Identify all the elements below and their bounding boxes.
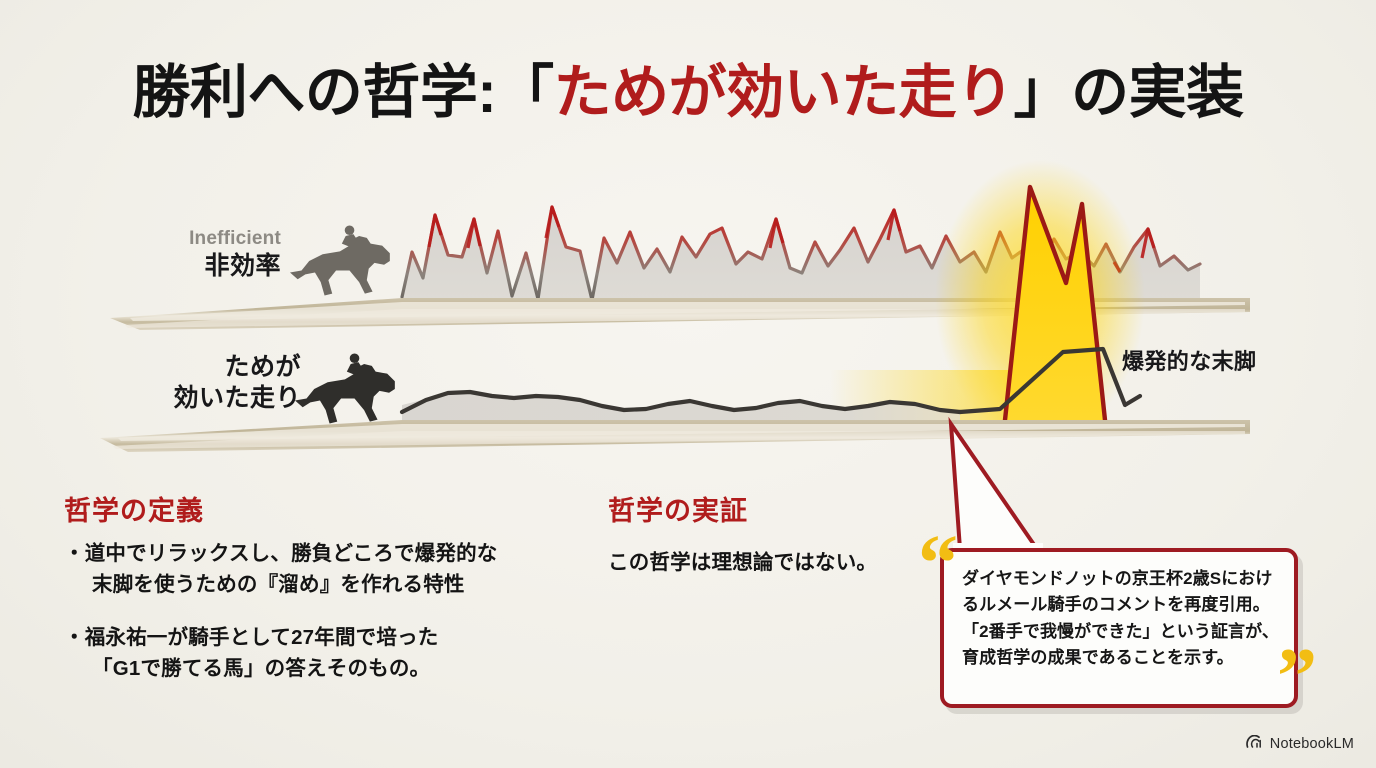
- notebooklm-arc-icon: [1246, 735, 1263, 752]
- watermark: NotebookLM: [1246, 735, 1354, 752]
- bullet-line-1: ・福永祐一が騎手として27年間で培った: [64, 626, 439, 649]
- inefficient-red-peaks: [429, 207, 1154, 272]
- proof-heading: 哲学の実証: [608, 489, 748, 528]
- tame-line: [402, 392, 960, 412]
- quote-line-4: 育成哲学の成果であることを示す。: [962, 645, 1282, 671]
- callout-tail: [951, 424, 1043, 557]
- quote-callout: ダイヤモンドノットの京王杯2歳Sにおけ るルメール騎手のコメントを再度引用。 「…: [940, 548, 1298, 708]
- proof-body: この哲学は理想論ではない。: [608, 548, 928, 579]
- quote-line-2: るルメール騎手のコメントを再度引用。: [962, 592, 1282, 618]
- list-item: ・福永祐一が騎手として27年間で培った 「G1で勝てる馬」の答えそのもの。: [64, 622, 594, 684]
- title-prefix: 勝利への哲学:「: [132, 60, 553, 125]
- slide-root: 勝利への哲学:「ためが効いた走り」の実装: [0, 0, 1376, 768]
- tame-area: [402, 392, 960, 420]
- row-label-inefficient-en: Inefficient: [81, 228, 281, 250]
- title-suffix: 」の実装: [1014, 60, 1244, 125]
- chart-inefficient: [110, 207, 1250, 330]
- final-burst-outline: [1005, 187, 1105, 420]
- row-label-inefficient: Inefficient 非効率: [81, 228, 281, 282]
- title-accent: ためが効いた走り: [554, 60, 1014, 125]
- spike-glow: [935, 160, 1145, 440]
- definition-heading: 哲学の定義: [64, 489, 204, 528]
- horse-jockey-icon-inefficient: [290, 225, 390, 295]
- burst-descent: [960, 349, 1140, 412]
- row-label-inefficient-jp: 非効率: [81, 251, 281, 282]
- inefficient-line: [402, 207, 1200, 300]
- row-label-tame-line2: 効いた走り: [81, 383, 301, 414]
- bullet-line-2: 「G1で勝てる馬」の答えそのもの。: [78, 653, 594, 684]
- track-row-2: [100, 420, 1250, 452]
- watermark-label: NotebookLM: [1270, 736, 1354, 752]
- burst-label: 爆発的な末脚: [1122, 344, 1256, 376]
- track-row-1: [110, 298, 1250, 330]
- quote-line-3: 「2番手で我慢ができた」という証言が、: [962, 619, 1282, 645]
- definition-bullets: ・道中でリラックスし、勝負どころで爆発的な 末脚を使うための『溜め』を作れる特性…: [64, 538, 594, 707]
- list-item: ・道中でリラックスし、勝負どころで爆発的な 末脚を使うための『溜め』を作れる特性: [64, 538, 594, 600]
- page-title: 勝利への哲学:「ためが効いた走り」の実装: [0, 62, 1376, 123]
- final-burst-shape: [1005, 187, 1105, 420]
- quote-open-icon: “: [918, 524, 958, 604]
- row-label-tame-line1: ためが: [81, 352, 301, 383]
- bullet-line-1: ・道中でリラックスし、勝負どころで爆発的な: [64, 542, 497, 565]
- inefficient-area: [402, 207, 1200, 300]
- quote-text: ダイヤモンドノットの京王杯2歳Sにおけ るルメール騎手のコメントを再度引用。 「…: [962, 566, 1282, 671]
- quote-close-icon: ”: [1277, 637, 1317, 717]
- horse-jockey-icon-tame: [295, 353, 395, 423]
- bullet-line-2: 末脚を使うための『溜め』を作れる特性: [78, 569, 594, 600]
- row-label-tame: ためが 効いた走り: [81, 352, 301, 413]
- approach-glow: [830, 370, 1050, 425]
- quote-line-1: ダイヤモンドノットの京王杯2歳Sにおけ: [962, 566, 1282, 592]
